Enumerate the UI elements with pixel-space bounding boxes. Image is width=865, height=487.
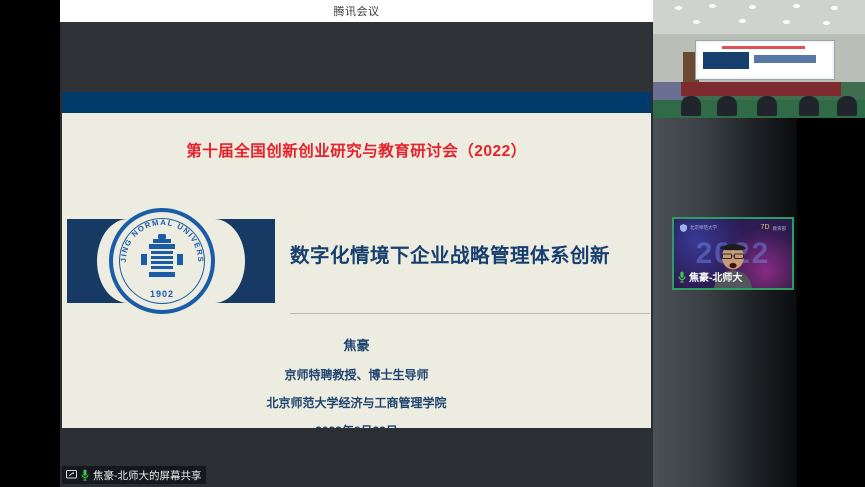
slide-main-title: 数字化情境下企业战略管理体系创新 bbox=[290, 239, 642, 268]
tile-anniversary-text: 7D bbox=[761, 224, 770, 233]
shared-screen-window: 腾讯会议 第十届全国创新创业研究与教育研讨会（2022） bbox=[60, 0, 653, 487]
room-screen-logo-block bbox=[703, 52, 749, 69]
tile-left-logo-text: 北京师范大学 bbox=[690, 225, 717, 231]
tile-backdrop-left-logo: 北京师范大学 bbox=[680, 224, 717, 232]
ceiling-light bbox=[693, 20, 700, 24]
participant-video-tile[interactable]: 2022 北京师范大学 7D 教育部 bbox=[672, 217, 794, 290]
ceiling-light bbox=[783, 20, 790, 24]
ceiling-light bbox=[793, 4, 800, 8]
ceiling-light bbox=[831, 6, 838, 10]
presenter-role: 京师特聘教授、博士生导师 bbox=[62, 366, 651, 383]
screen-share-label: 焦豪-北师大的屏幕共享 bbox=[93, 468, 202, 483]
slide-top-dark-band bbox=[62, 22, 651, 92]
ceiling-light bbox=[709, 4, 716, 8]
presenter-name: 焦豪 bbox=[62, 335, 651, 354]
ceiling-light bbox=[823, 21, 830, 25]
room-attendee bbox=[757, 96, 777, 116]
participant-name-badge: 焦豪-北师大 bbox=[678, 269, 742, 284]
ceiling-light bbox=[749, 5, 756, 9]
window-title: 腾讯会议 bbox=[334, 3, 380, 19]
conference-room-video-feed[interactable] bbox=[653, 0, 865, 118]
ceiling-light bbox=[739, 19, 746, 23]
right-black-margin bbox=[797, 118, 865, 487]
shield-icon bbox=[680, 224, 687, 232]
presenter-affiliation: 北京师范大学经济与工商管理学院 bbox=[62, 394, 651, 411]
microphone-icon bbox=[81, 469, 89, 481]
title-divider bbox=[290, 313, 650, 314]
microphone-icon bbox=[678, 271, 686, 283]
presenter-block: 焦豪 京师特聘教授、博士生导师 北京师范大学经济与工商管理学院 2022年8月2… bbox=[62, 335, 651, 439]
room-attendee bbox=[837, 96, 857, 116]
meeting-screen: 腾讯会议 第十届全国创新创业研究与教育研讨会（2022） bbox=[0, 0, 865, 487]
bnu-logo: BEIJING NORMAL UNIVERSITY bbox=[67, 201, 282, 321]
room-projection-screen bbox=[695, 40, 835, 80]
tile-backdrop-right-logo: 7D 教育部 bbox=[761, 224, 786, 233]
room-screen-text-band bbox=[754, 55, 816, 62]
room-stage bbox=[681, 82, 841, 96]
conference-title: 第十届全国创新创业研究与教育研讨会（2022） bbox=[62, 139, 651, 161]
screen-share-icon bbox=[66, 470, 77, 480]
room-attendee bbox=[799, 96, 819, 116]
room-screen-surface bbox=[698, 43, 832, 77]
room-attendee bbox=[681, 96, 701, 116]
room-screen-title-line bbox=[722, 46, 805, 49]
room-attendee bbox=[717, 96, 737, 116]
seal-emblem-icon bbox=[141, 234, 183, 284]
presentation-slide[interactable]: 第十届全国创新创业研究与教育研讨会（2022） bbox=[62, 22, 651, 428]
slide-navy-band bbox=[62, 92, 651, 113]
bnu-seal-icon: BEIJING NORMAL UNIVERSITY bbox=[109, 208, 215, 314]
seal-year: 1902 bbox=[113, 289, 211, 299]
ceiling-light bbox=[675, 6, 682, 10]
slide-body: 第十届全国创新创业研究与教育研讨会（2022） bbox=[62, 113, 651, 428]
participant-video-panel bbox=[653, 118, 797, 487]
window-titlebar: 腾讯会议 bbox=[60, 0, 653, 22]
screen-share-statusbar[interactable]: 焦豪-北师大的屏幕共享 bbox=[62, 466, 206, 484]
participant-name: 焦豪-北师大 bbox=[689, 269, 742, 284]
tile-right-logo-text: 教育部 bbox=[773, 226, 787, 232]
